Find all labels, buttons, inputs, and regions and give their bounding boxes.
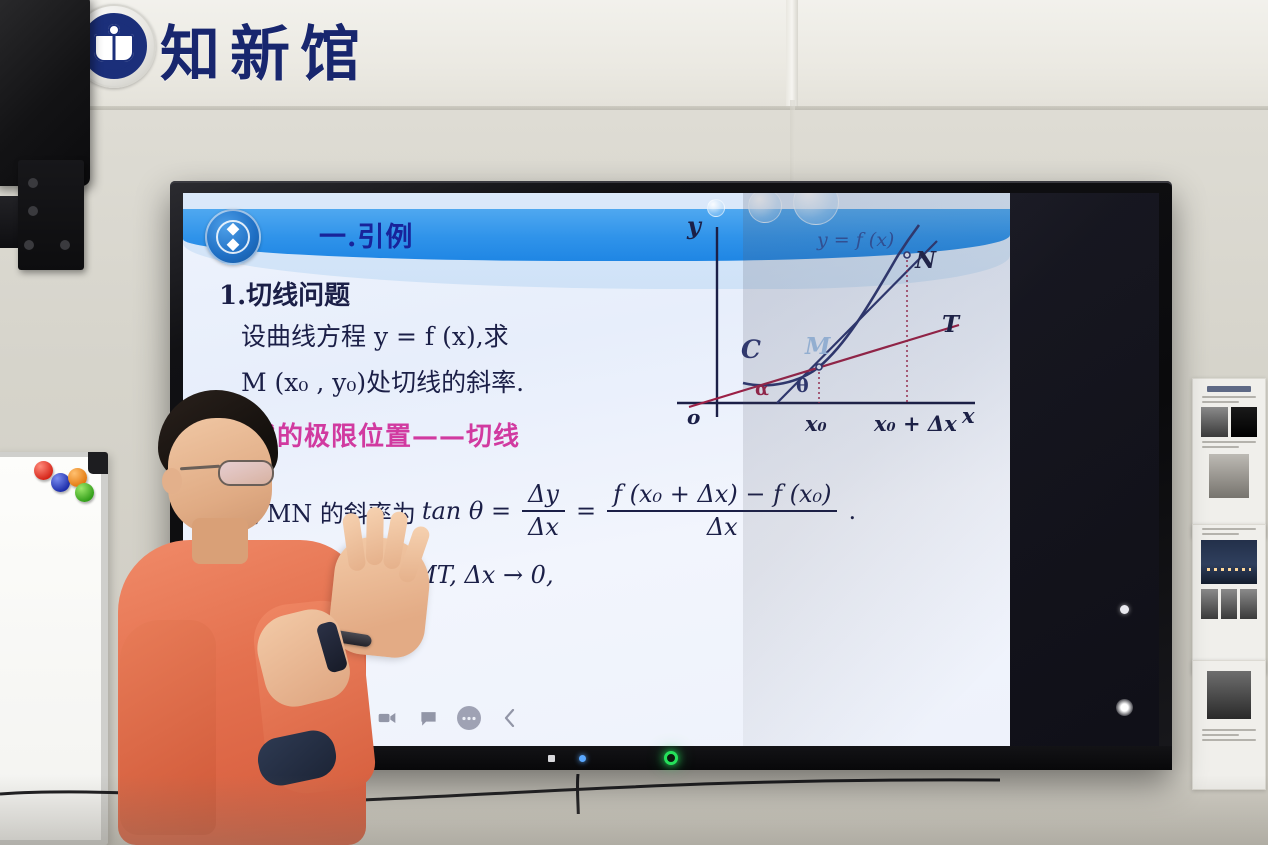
origin-label: o (687, 405, 700, 429)
fraction-dy-dx: Δy Δx (522, 481, 565, 541)
point-label-M: M (805, 333, 830, 360)
floor-shadow (0, 775, 1268, 845)
speaker-bracket (18, 160, 84, 270)
angle-label-theta: θ (796, 375, 809, 397)
ellipsis-icon[interactable] (457, 706, 481, 730)
whiteboard-magnet (75, 483, 94, 502)
tv-indicator-blue (579, 755, 586, 762)
chevron-left-icon[interactable] (498, 706, 522, 730)
slide-body-line-1: 设曲线方程 y = f (x),求 (241, 317, 509, 353)
curve-label-C: C (741, 335, 761, 364)
tv-power-led (664, 751, 678, 765)
point-label-N: N (915, 247, 936, 274)
fraction-difference-quotient: f (x₀ + Δx) − f (x₀) Δx (607, 481, 837, 541)
point-N (904, 252, 910, 258)
whiteboard-magnet (34, 461, 53, 480)
presenter-ear (162, 468, 182, 494)
wall-poster (1192, 378, 1266, 538)
wall-poster (1192, 524, 1266, 674)
formula-lhs: tan θ = (422, 497, 511, 525)
tv-indicator-white (548, 755, 555, 762)
x-tick-x0: x₀ (805, 411, 827, 436)
tangent-line-diagram: y o x y = f (x) C M N T α θ x₀ x₀ + Δx (659, 217, 999, 445)
presenter-neck (192, 518, 248, 564)
slide-title: 一.引例 (319, 215, 413, 254)
glasses-icon (218, 460, 274, 486)
bubble-decor-icon (707, 199, 725, 217)
slide-heading: 1.切线问题 (219, 275, 350, 312)
university-seal-icon (205, 209, 261, 265)
period-mark: . (848, 497, 856, 525)
screen-glare-dot (1120, 605, 1129, 614)
wall-speaker (0, 0, 90, 186)
room-sign-title: 知新馆 (160, 6, 370, 93)
x-tick-x0-plus-dx: x₀ + Δx (874, 411, 957, 436)
tangent-label-T: T (942, 311, 959, 338)
y-axis-label: y (687, 211, 701, 240)
equals-sign: = (576, 497, 596, 525)
function-label: y = f (x) (817, 229, 894, 251)
point-M (816, 364, 822, 370)
screen-glare-spot (1116, 699, 1133, 716)
wall-poster (1192, 660, 1266, 790)
x-axis-label: x (962, 403, 975, 428)
classroom-scene: 知新馆 (0, 0, 1268, 845)
angle-label-alpha: α (755, 379, 769, 400)
wall-pillar (786, 0, 798, 108)
